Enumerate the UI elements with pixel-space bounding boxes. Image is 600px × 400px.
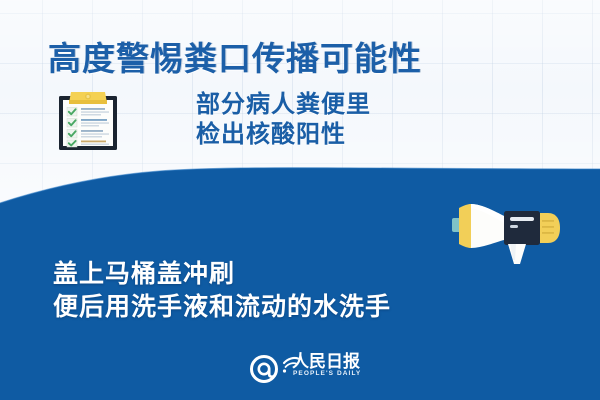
- message-line-2: 便后用洗手液和流动的水洗手: [53, 291, 391, 324]
- megaphone-icon: [452, 192, 562, 264]
- subtitle-line-2: 检出核酸阳性: [196, 120, 371, 150]
- subtitle-line-1: 部分病人粪便里: [196, 90, 371, 120]
- clipboard-checklist-icon: [57, 90, 119, 152]
- subtitle-block: 部分病人粪便里 检出核酸阳性: [196, 90, 371, 150]
- message-block: 盖上马桶盖冲刷 便后用洗手液和流动的水洗手: [53, 258, 391, 324]
- logo-chinese-name: 人民日报: [292, 353, 360, 370]
- page-title: 高度警惕粪口传播可能性: [48, 32, 568, 80]
- peoples-daily-logo: 人民日报 PEOPLE'S DAILY: [248, 354, 360, 384]
- logo-english-name: PEOPLE'S DAILY: [293, 370, 361, 378]
- message-line-1: 盖上马桶盖冲刷: [53, 258, 391, 291]
- public-health-poster: 高度警惕粪口传播可能性 部分病: [0, 0, 600, 400]
